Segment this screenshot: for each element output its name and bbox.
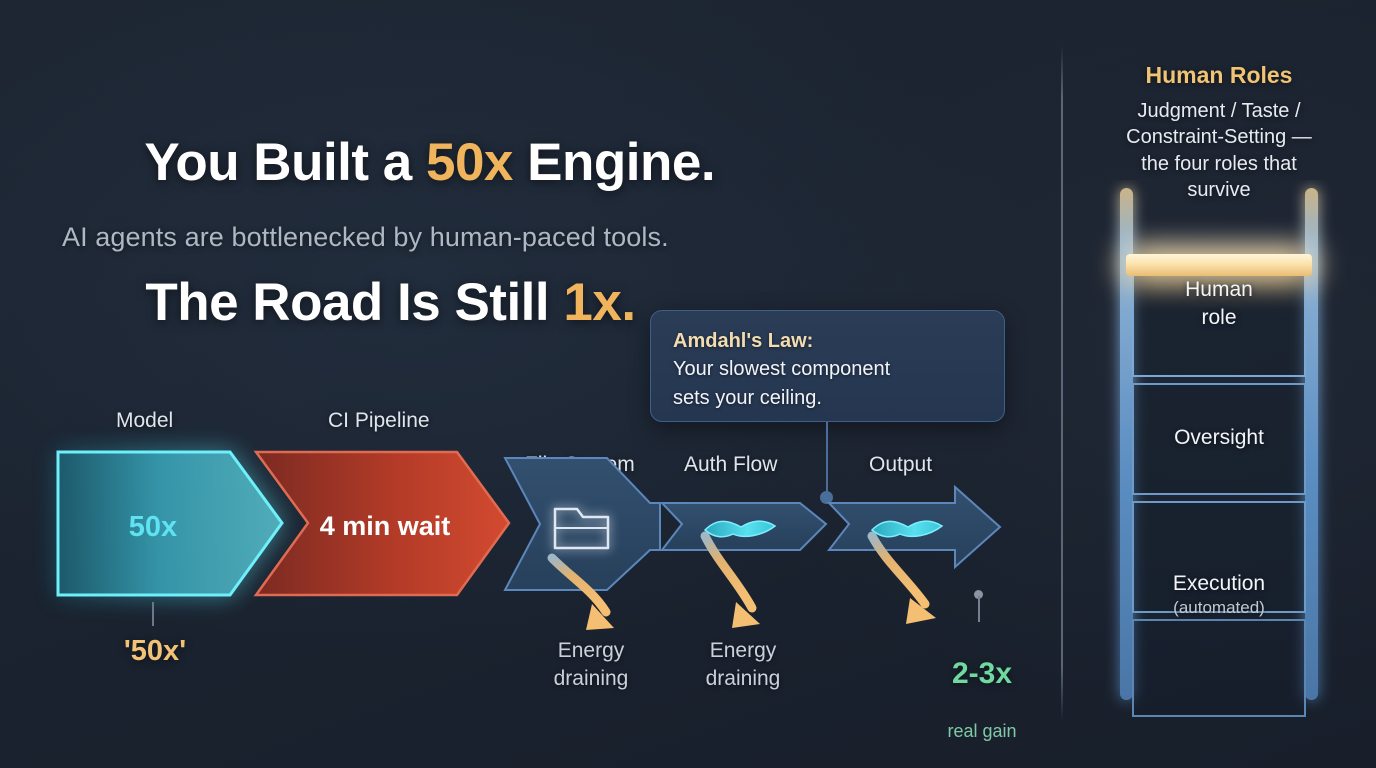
infographic-canvas: You Built a 50x Engine. The Road Is Stil… <box>0 0 1376 768</box>
ladder-label-execution-sub: (automated) <box>1134 597 1304 619</box>
headline-line2-accent: 1x. <box>563 273 635 332</box>
pipeline-stage-model[interactable]: 50x <box>58 452 282 595</box>
pipeline-stage-file-system[interactable] <box>505 458 660 630</box>
ladder-label-oversight: Oversight <box>1134 424 1304 452</box>
ladder-label-execution-main: Execution <box>1173 572 1265 595</box>
headline-line-2: The Road Is Still 1x. <box>145 273 635 332</box>
headline-line1-post: Engine. <box>513 133 715 192</box>
ladder-label-human-role: Human role <box>1134 276 1304 331</box>
energy-draining-label-1: Energy draining <box>516 637 666 694</box>
claimed-gain-label: '50x' <box>90 632 220 671</box>
pipeline-stage-output[interactable] <box>829 487 1000 567</box>
real-gain-value: 2-3x <box>912 654 1052 695</box>
claimed-gain-tick <box>152 602 154 626</box>
real-gain-annotation: 2-3x real gain <box>912 632 1052 765</box>
energy-draining-label-2: Energy draining <box>668 637 818 694</box>
ladder-label-execution: Execution (automated) <box>1134 542 1304 648</box>
headline-line2-pre: The Road Is Still <box>145 273 563 332</box>
real-gain-caption: real gain <box>912 719 1052 743</box>
right-panel: Human Roles Judgment / Taste / Constrain… <box>1062 0 1376 768</box>
pipeline-stage-auth-flow[interactable] <box>662 503 826 550</box>
headline-line1-pre: You Built a <box>144 133 426 192</box>
ladder-rung-highlight[interactable] <box>1126 254 1312 276</box>
left-panel: You Built a 50x Engine. The Road Is Stil… <box>0 0 1061 768</box>
pipeline-diagram: 50x 4 min wait <box>0 390 1061 630</box>
real-gain-tick <box>978 596 980 622</box>
headline-line-1: You Built a 50x Engine. <box>144 133 715 192</box>
headline-line1-accent: 50x <box>426 133 513 192</box>
human-roles-title: Human Roles <box>1062 62 1376 89</box>
page-subtitle: AI agents are bottlenecked by human-pace… <box>62 222 669 253</box>
pipeline-stage-ci-pipeline[interactable]: 4 min wait <box>256 452 509 595</box>
callout-title: Amdahl's Law: <box>673 327 982 355</box>
pipeline-value-ci-pipeline: 4 min wait <box>320 511 451 541</box>
pipeline-value-model: 50x <box>129 511 177 543</box>
